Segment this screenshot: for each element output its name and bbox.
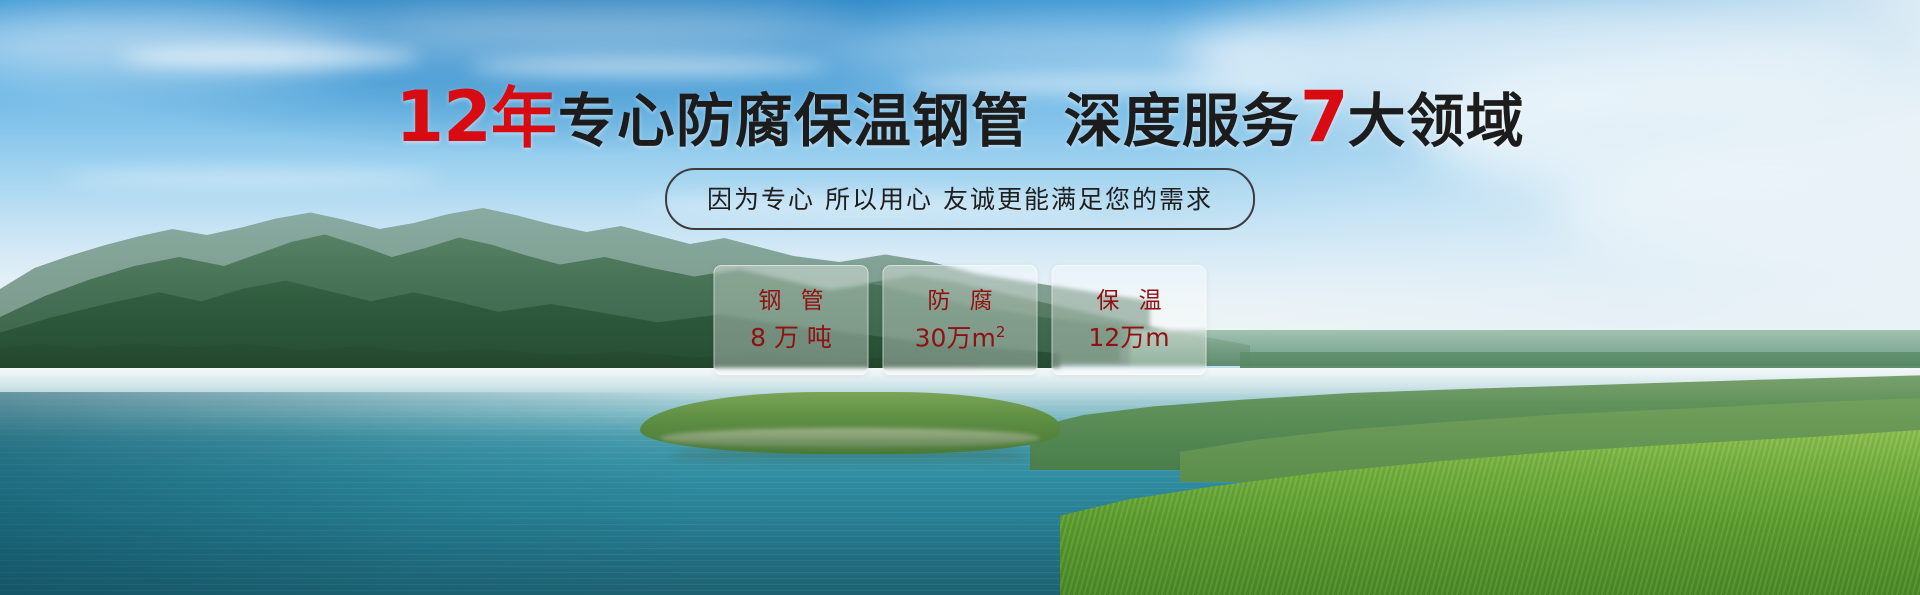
stat-value-main: 8 万 吨: [750, 323, 832, 352]
headline-part-one: 专心防腐保温钢管: [558, 87, 1030, 155]
stat-value: 30万m2: [915, 325, 1006, 350]
headline-fields-number: 7: [1300, 76, 1348, 158]
banner-subtitle-pill: 因为专心 所以用心 友诚更能满足您的需求: [665, 168, 1255, 230]
headline-part-two: 深度服务: [1064, 87, 1300, 155]
stat-value-main: 12万m: [1088, 323, 1169, 352]
stat-card-steel-pipe: 钢 管 8 万 吨: [714, 265, 869, 375]
banner-content: 12年专心防腐保温钢管深度服务7大领域 因为专心 所以用心 友诚更能满足您的需求…: [0, 0, 1920, 595]
stat-card-anticorrosion: 防 腐 30万m2: [883, 265, 1038, 375]
stat-card-insulation: 保 温 12万m: [1052, 265, 1207, 375]
stats-card-group: 钢 管 8 万 吨 防 腐 30万m2 保 温 12万m: [714, 265, 1207, 375]
headline-part-three: 大领域: [1348, 87, 1525, 155]
stat-label: 钢 管: [752, 290, 829, 313]
hero-banner: 12年专心防腐保温钢管深度服务7大领域 因为专心 所以用心 友诚更能满足您的需求…: [0, 0, 1920, 595]
banner-headline: 12年专心防腐保温钢管深度服务7大领域: [0, 82, 1920, 152]
stat-value-main: 30万m: [915, 323, 996, 352]
headline-years-unit: 年: [491, 80, 558, 157]
headline-years-number: 12: [395, 76, 490, 158]
stat-value: 12万m: [1088, 325, 1169, 350]
stat-label: 保 温: [1090, 290, 1167, 313]
stat-label: 防 腐: [921, 290, 998, 313]
stat-value-superscript: 2: [996, 323, 1006, 341]
stat-value: 8 万 吨: [750, 325, 832, 350]
